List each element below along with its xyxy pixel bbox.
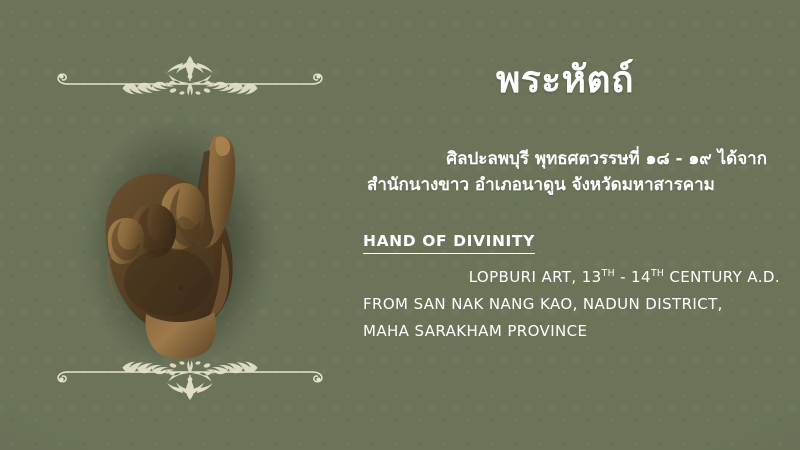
exhibit-title-thai: พระหัตถ์	[355, 57, 775, 103]
english-description-line-2: FROM SAN NAK NANG KAO, NADUN DISTRICT,	[355, 291, 785, 318]
exhibit-slide: พระหัตถ์ ศิลปะลพบุรี พุทธศตวรรษที่ ๑๘ - …	[0, 0, 800, 450]
english-line1-prefix: LOPBURI ART, 13	[469, 268, 602, 286]
caption-panel: พระหัตถ์ ศิลปะลพบุรี พุทธศตวรรษที่ ๑๘ - …	[355, 0, 800, 450]
thai-description-line-1: ศิลปะลพบุรี พุทธศตวรรษที่ ๑๘ - ๑๙ ได้จาก	[360, 146, 785, 172]
english-line1-suffix: CENTURY A.D.	[664, 268, 780, 286]
english-description: LOPBURI ART, 13TH - 14TH CENTURY A.D. FR…	[355, 260, 785, 345]
artifact-panel	[0, 0, 355, 450]
hand-sculpture-image	[62, 92, 292, 364]
english-heading: HAND OF DIVINITY	[363, 232, 535, 254]
thai-description: ศิลปะลพบุรี พุทธศตวรรษที่ ๑๘ - ๑๙ ได้จาก…	[360, 146, 785, 198]
english-description-line-3: MAHA SARAKHAM PROVINCE	[355, 318, 785, 345]
english-line1-sup1: TH	[602, 268, 615, 279]
english-line1-mid: - 14	[615, 268, 651, 286]
english-line1-sup2: TH	[651, 268, 664, 279]
ornament-divider-bottom	[50, 358, 330, 404]
thai-description-line-2: สำนักนางขาว อำเภอนาดูน จังหวัดมหาสารคาม	[360, 172, 785, 198]
english-description-line-1: LOPBURI ART, 13TH - 14TH CENTURY A.D.	[355, 260, 785, 291]
